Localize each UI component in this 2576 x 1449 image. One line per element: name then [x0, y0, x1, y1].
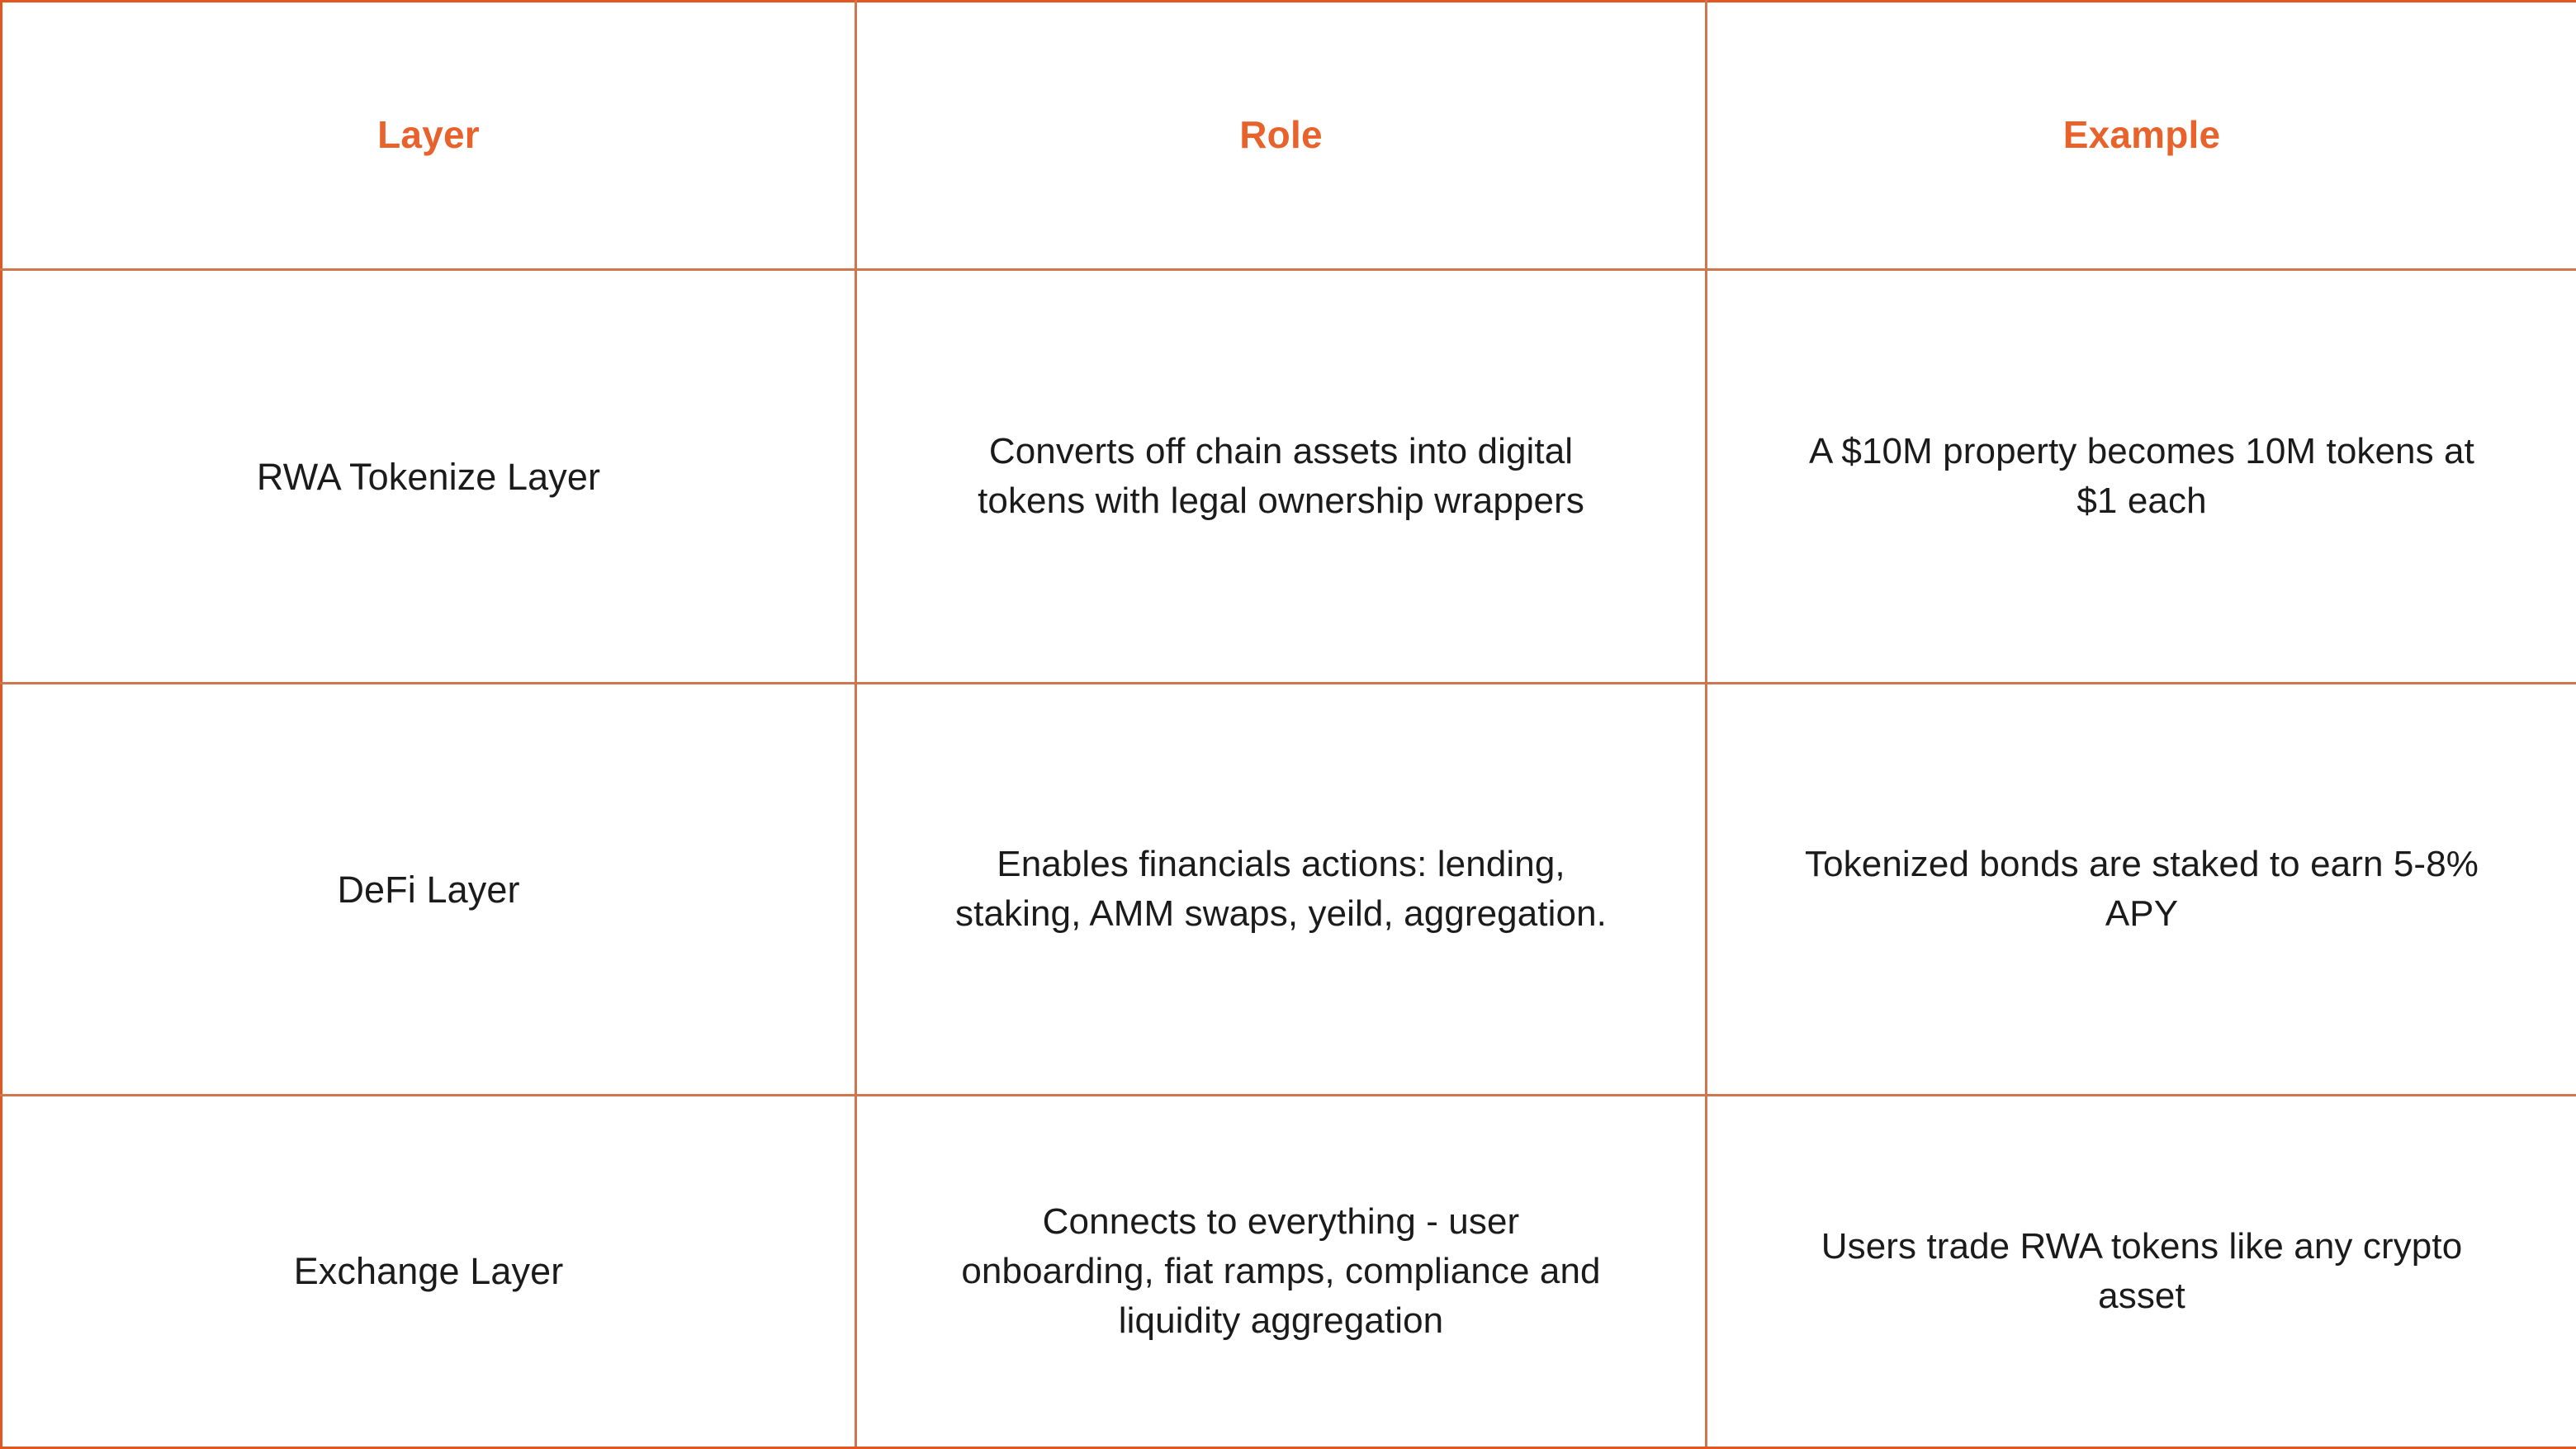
- cell-example-text: Tokenized bonds are staked to earn 5-8% …: [1787, 840, 2497, 939]
- cell-example: Users trade RWA tokens like any crypto a…: [1707, 1095, 2576, 1447]
- rwa-layers-table: Layer Role Example RWA Tokenize Layer Co…: [0, 0, 2576, 1449]
- cell-example: Tokenized bonds are staked to earn 5-8% …: [1707, 684, 2576, 1095]
- cell-role-text: Connects to everything - user onboarding…: [943, 1197, 1620, 1345]
- cell-layer-text: RWA Tokenize Layer: [57, 452, 800, 502]
- table-header: Layer Role Example: [2, 2, 2576, 270]
- cell-layer-text: DeFi Layer: [57, 864, 800, 915]
- column-header-layer: Layer: [2, 2, 856, 270]
- cell-example-text: A $10M property becomes 10M tokens at $1…: [1787, 427, 2497, 526]
- cell-role-text: Converts off chain assets into digital t…: [943, 427, 1620, 526]
- table-row: RWA Tokenize Layer Converts off chain as…: [2, 270, 2576, 684]
- table-body: RWA Tokenize Layer Converts off chain as…: [2, 270, 2576, 1448]
- column-header-example: Example: [1707, 2, 2576, 270]
- cell-layer: DeFi Layer: [2, 684, 856, 1095]
- cell-role-text: Enables financials actions: lending, sta…: [943, 840, 1620, 939]
- column-header-role: Role: [856, 2, 1707, 270]
- cell-layer-text: Exchange Layer: [57, 1246, 800, 1296]
- cell-example: A $10M property becomes 10M tokens at $1…: [1707, 270, 2576, 684]
- cell-layer: Exchange Layer: [2, 1095, 856, 1447]
- table-container: Layer Role Example RWA Tokenize Layer Co…: [0, 0, 2576, 1449]
- cell-example-text: Users trade RWA tokens like any crypto a…: [1787, 1222, 2497, 1321]
- table-row: Exchange Layer Connects to everything - …: [2, 1095, 2576, 1447]
- cell-role: Connects to everything - user onboarding…: [856, 1095, 1707, 1447]
- table-row: DeFi Layer Enables financials actions: l…: [2, 684, 2576, 1095]
- column-header-role-label: Role: [888, 112, 1674, 158]
- column-header-example-label: Example: [1739, 112, 2545, 158]
- column-header-layer-label: Layer: [34, 112, 823, 158]
- cell-role: Enables financials actions: lending, sta…: [856, 684, 1707, 1095]
- header-row: Layer Role Example: [2, 2, 2576, 270]
- cell-layer: RWA Tokenize Layer: [2, 270, 856, 684]
- cell-role: Converts off chain assets into digital t…: [856, 270, 1707, 684]
